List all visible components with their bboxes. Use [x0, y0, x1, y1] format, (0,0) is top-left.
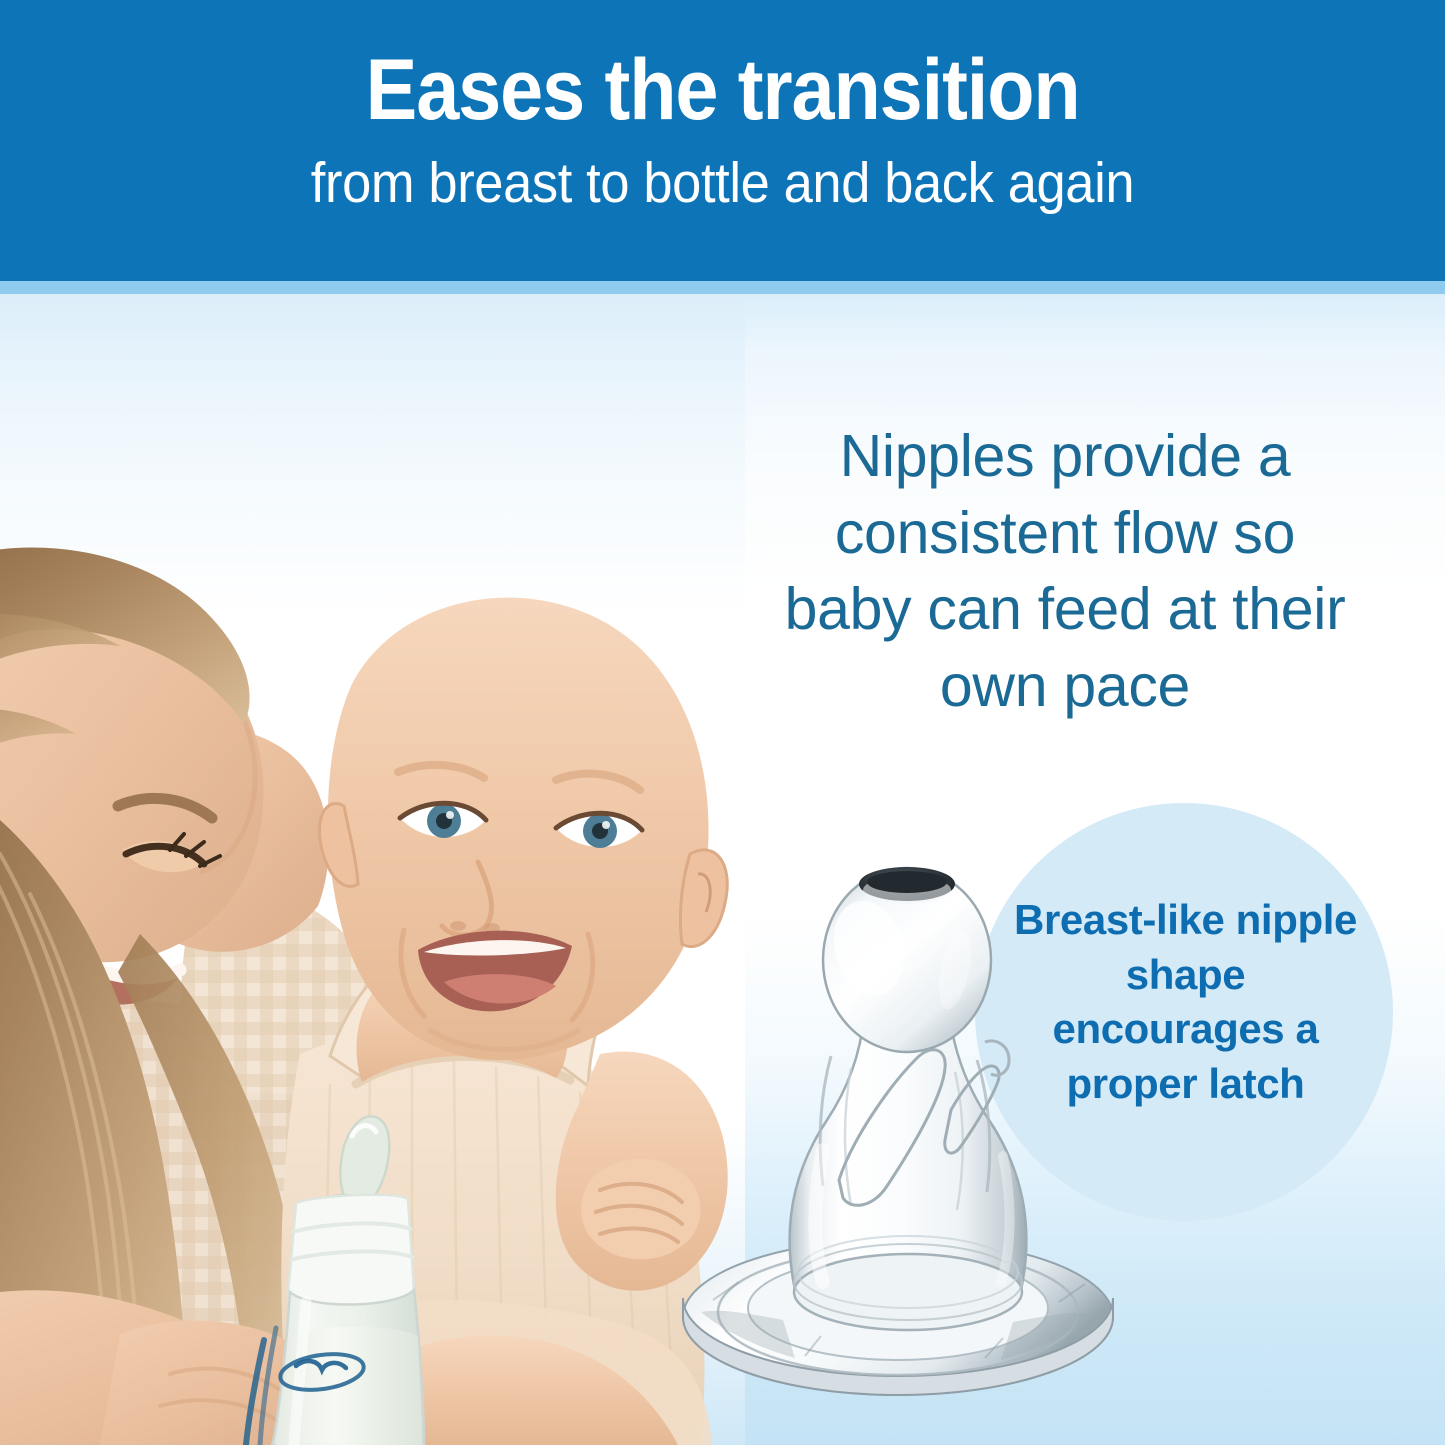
accent-bar	[0, 281, 1445, 294]
mother-and-baby-photo	[0, 294, 745, 1445]
product-feature-graphic: Eases the transition from breast to bott…	[0, 0, 1445, 1445]
body-copy: Nipples provide a consistent flow so bab…	[780, 418, 1350, 725]
headline: Eases the transition	[366, 48, 1080, 132]
callout-text: Breast-like nipple shape encourages a pr…	[1013, 893, 1358, 1111]
subheadline: from breast to bottle and back again	[311, 154, 1134, 214]
header-banner: Eases the transition from breast to bott…	[0, 0, 1445, 281]
